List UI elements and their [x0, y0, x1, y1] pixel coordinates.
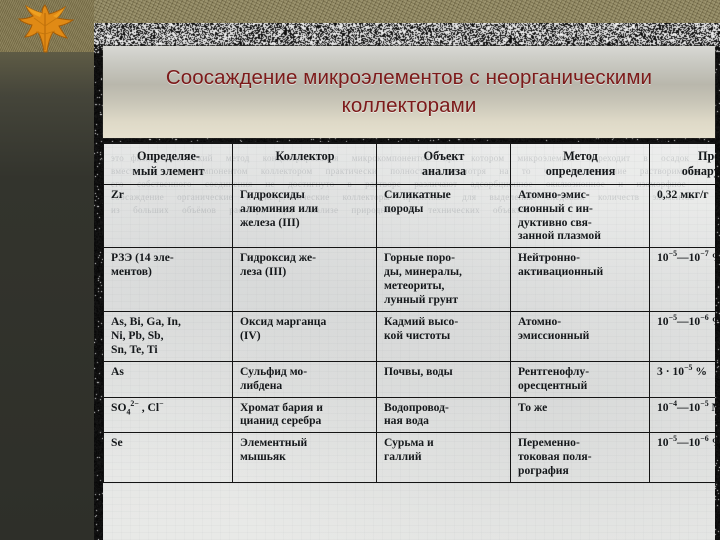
col-header-element: Определяе- мый элемент: [104, 143, 233, 184]
coprecipitation-table: Определяе- мый элемент Коллектор Объект …: [103, 142, 715, 483]
cell-object: Сурьма и галлий: [377, 433, 511, 483]
cell-limit: 10−5—10−6 %: [650, 433, 716, 483]
col-header-limit: Предел обнаружения: [650, 143, 716, 184]
cell-limit: 0,32 мкг/г: [650, 184, 716, 248]
cell-collector: Гидроксиды алюминия или железа (III): [233, 184, 377, 248]
page-title: Соосаждение микроэлементов с неорганичес…: [103, 64, 715, 121]
left-side-panel: [0, 23, 94, 540]
cell-method: Атомно-эмис- сионный с ин- дуктивно свя-…: [511, 184, 650, 248]
table-row: As, Bi, Ga, In, Ni, Pb, Sb, Sn, Te, Ti О…: [104, 312, 716, 362]
table-body: Zr Гидроксиды алюминия или железа (III) …: [104, 184, 716, 482]
cell-collector: Гидроксид же- леза (III): [233, 248, 377, 312]
cell-object: Кадмий высо- кой чистоты: [377, 312, 511, 362]
cell-element: As: [104, 361, 233, 397]
cell-limit: 3 · 10−5 %: [650, 361, 716, 397]
cell-object: Горные поро- ды, минералы, метеориты, лу…: [377, 248, 511, 312]
col-header-collector: Коллектор: [233, 143, 377, 184]
cell-method: Рентгенофлу- оресцентный: [511, 361, 650, 397]
cell-limit: 10−5—10−6 %: [650, 312, 716, 362]
cell-collector: Хромат бария и цианид серебра: [233, 397, 377, 433]
cell-element: Zr: [104, 184, 233, 248]
table-row: As Сульфид мо- либдена Почвы, воды Рентг…: [104, 361, 716, 397]
table-row: Se Элементный мышьяк Сурьма и галлий Пер…: [104, 433, 716, 483]
cell-limit: 10−5—10−7 %: [650, 248, 716, 312]
cell-element: РЗЭ (14 эле- ментов): [104, 248, 233, 312]
col-header-method: Метод определения: [511, 143, 650, 184]
table-row: SO42− , Cl− Хромат бария и цианид серебр…: [104, 397, 716, 433]
cell-element: SO42− , Cl−: [104, 397, 233, 433]
cell-collector: Оксид марганца (IV): [233, 312, 377, 362]
slide: Соосаждение микроэлементов с неорганичес…: [0, 0, 720, 540]
maple-leaf-icon: [14, 4, 78, 54]
table-row: РЗЭ (14 эле- ментов) Гидроксид же- леза …: [104, 248, 716, 312]
cell-object: Водопровод- ная вода: [377, 397, 511, 433]
cell-object: Силикатные породы: [377, 184, 511, 248]
cell-element: As, Bi, Ga, In, Ni, Pb, Sb, Sn, Te, Ti: [104, 312, 233, 362]
cell-limit: 10−4—10−5 М: [650, 397, 716, 433]
cell-object: Почвы, воды: [377, 361, 511, 397]
cell-collector: Элементный мышьяк: [233, 433, 377, 483]
table-row: Zr Гидроксиды алюминия или железа (III) …: [104, 184, 716, 248]
slide-title-banner: Соосаждение микроэлементов с неорганичес…: [103, 46, 715, 138]
top-texture-band: [0, 0, 720, 23]
table-card: это физико-химический метод концентриров…: [103, 142, 715, 540]
cell-method: Атомно- эмиссионный: [511, 312, 650, 362]
table-header-row: Определяе- мый элемент Коллектор Объект …: [104, 143, 716, 184]
cell-collector: Сульфид мо- либдена: [233, 361, 377, 397]
col-header-object: Объект анализа: [377, 143, 511, 184]
cell-method: То же: [511, 397, 650, 433]
cell-method: Переменно- токовая поля- рография: [511, 433, 650, 483]
cell-method: Нейтронно- активационный: [511, 248, 650, 312]
cell-element: Se: [104, 433, 233, 483]
